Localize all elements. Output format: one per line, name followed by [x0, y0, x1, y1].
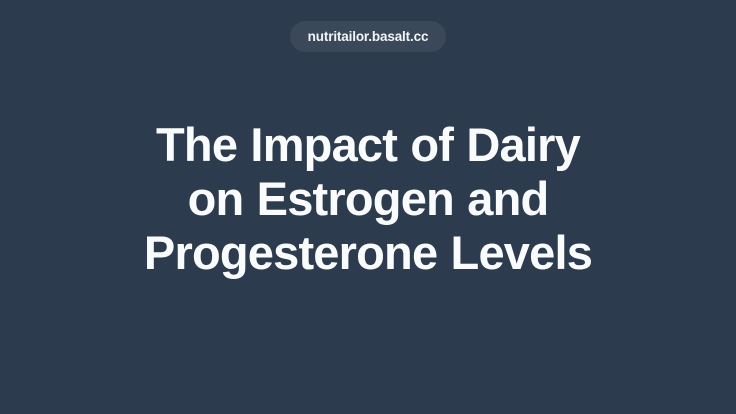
title-line-3: Progesterone Levels	[60, 226, 676, 280]
title-slide: nutritailor.basalt.cc The Impact of Dair…	[0, 0, 736, 414]
badge-row: nutritailor.basalt.cc	[0, 21, 736, 52]
source-domain-badge[interactable]: nutritailor.basalt.cc	[290, 21, 447, 52]
page-title: The Impact of Dairy on Estrogen and Prog…	[60, 118, 676, 280]
title-block: The Impact of Dairy on Estrogen and Prog…	[0, 118, 736, 280]
title-line-1: The Impact of Dairy	[60, 118, 676, 172]
title-line-2: on Estrogen and	[60, 172, 676, 226]
